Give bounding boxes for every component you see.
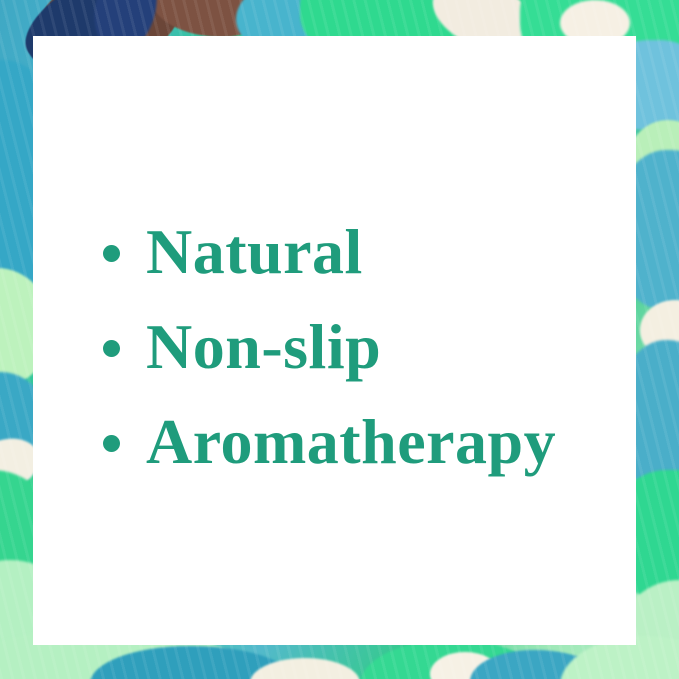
bullet-dot-icon — [103, 245, 120, 262]
white-content-card: Natural Non-slip Aromatherapy — [33, 36, 636, 645]
feature-label-non-slip: Non-slip — [146, 315, 381, 379]
list-item: Non-slip — [103, 299, 626, 394]
feature-label-natural: Natural — [146, 220, 363, 284]
feature-bullet-list: Natural Non-slip Aromatherapy — [103, 204, 626, 489]
bullet-dot-icon — [103, 340, 120, 357]
list-item: Aromatherapy — [103, 394, 626, 489]
product-feature-graphic: Natural Non-slip Aromatherapy — [0, 0, 679, 679]
bullet-dot-icon — [103, 435, 120, 452]
feature-label-aromatherapy: Aromatherapy — [146, 410, 556, 474]
list-item: Natural — [103, 204, 626, 299]
